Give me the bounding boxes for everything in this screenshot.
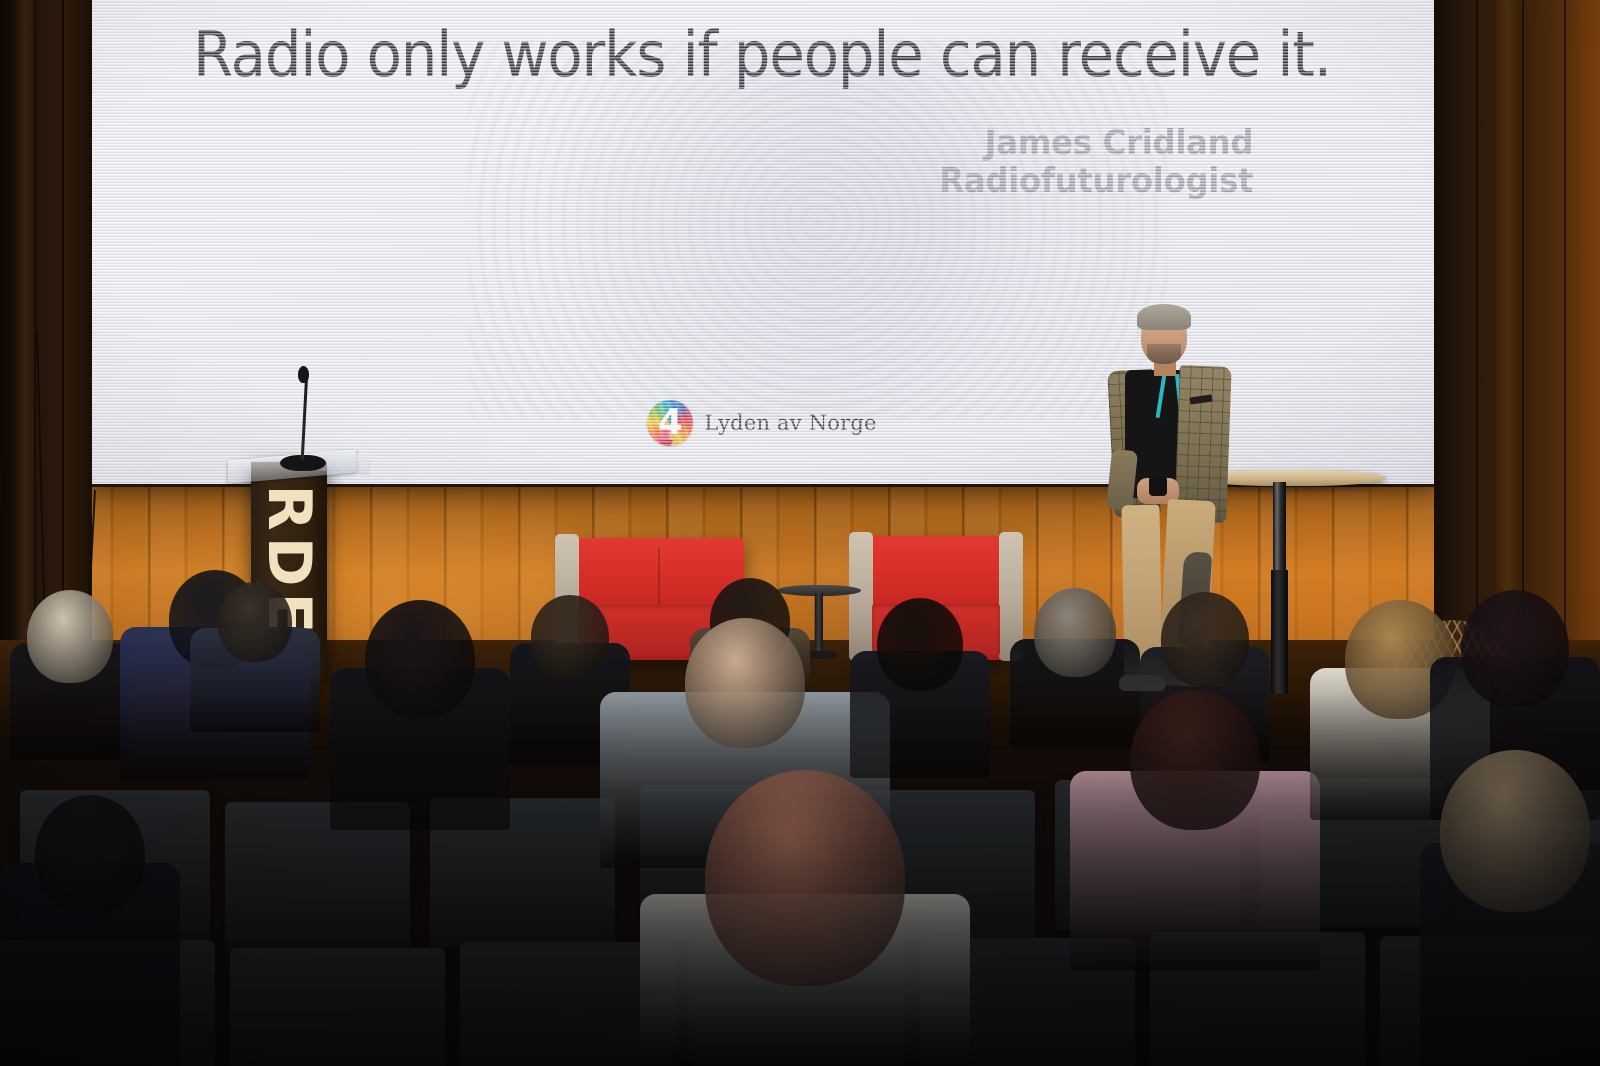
microphone-icon [298, 366, 309, 383]
speaker-hair [1137, 304, 1191, 330]
logo-wordmark: Lyden av Norge [704, 411, 876, 435]
presentation-clicker-icon [1149, 476, 1167, 496]
audience-member-head [27, 590, 113, 683]
audience-member-head [1161, 592, 1249, 687]
slide-background-watermark [468, 40, 1168, 420]
audience-member-curly-hair-attendee [330, 600, 510, 830]
audience-member-head [705, 770, 905, 986]
audience-member-blonde-woman-left [10, 590, 130, 760]
audience-member-head [1034, 588, 1116, 677]
audience-member-man-dark-suit-centre [850, 598, 990, 778]
slide-speaker-name: James Cridland [939, 124, 1253, 162]
p4-logo-icon: 4 [647, 400, 693, 446]
audience-member-head [1461, 590, 1569, 707]
audience-member-person-salmon-cap [640, 770, 970, 1066]
conference-photo-scene: Radio only works if people can receive i… [0, 0, 1600, 1066]
audience-member-attendee-bottom-left [0, 795, 180, 1066]
audience-member-head [218, 582, 292, 662]
audience-member-head [1130, 690, 1260, 830]
audience-member-head [1440, 750, 1590, 912]
audience-people [0, 540, 1600, 1066]
speaker-beard [1147, 344, 1181, 364]
audience-member-head [531, 595, 609, 679]
audience-member-head [685, 618, 805, 748]
audience-member-head [365, 600, 475, 719]
audience-member-blond-person-foreground [1420, 750, 1600, 1066]
slide-attribution: James Cridland Radiofuturologist [939, 124, 1253, 200]
audience-member-head [35, 795, 145, 914]
slide-title: Radio only works if people can receive i… [135, 22, 1389, 87]
audience-member-woman-floral-blouse [1070, 690, 1320, 970]
audience-member-head [877, 598, 963, 691]
logo-numeral: 4 [647, 400, 693, 446]
slide-speaker-role: Radiofuturologist [939, 162, 1253, 200]
audience-member-man-grey-suit-back [190, 582, 320, 732]
